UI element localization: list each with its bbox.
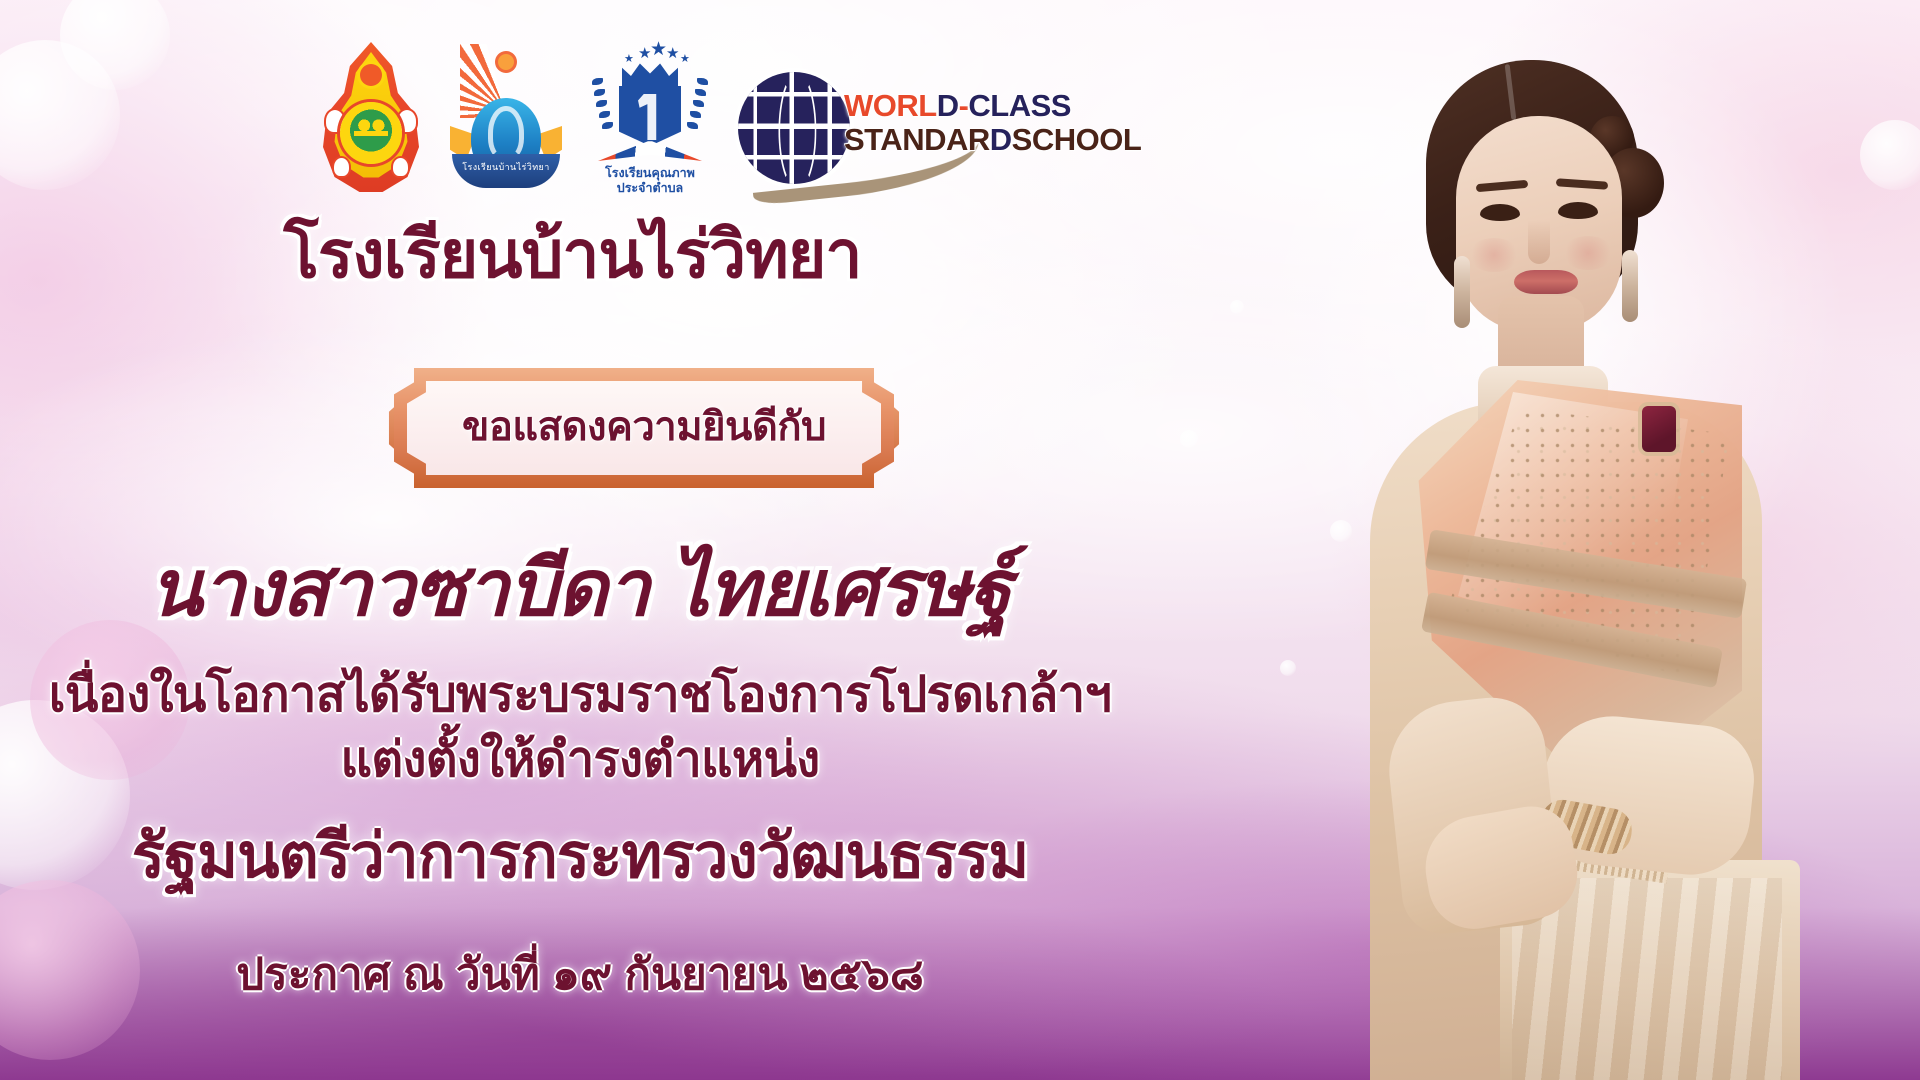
wcss-word-school: SCHOOL [1012,122,1142,157]
wcss-letter-d-bottom: D [990,122,1012,157]
ministry-of-education-emblem-icon [318,42,424,192]
wcss-line-2: STANDARDSCHOOL [844,123,1072,156]
crown-icon [622,62,678,88]
ban-rai-wittaya-school-emblem-icon: โรงเรียนบ้านไร่วิทยา [450,42,562,192]
eye [1480,204,1520,221]
laurel-icon [686,76,708,138]
logo-row: โรงเรียนบ้านไร่วิทยา ★ ★ ★ ★ ★ [318,40,1072,192]
wcss-wordmark: WORLD-CLASS STANDARDSCHOOL [844,90,1072,156]
star-icon: ★ [666,46,679,61]
wcss-word-world: WORL [844,88,937,123]
wcss-word-standar: STANDAR [844,122,990,157]
wcss-letter-d-top: D [937,88,959,123]
cheek-blush [1468,238,1520,272]
quality-school-label: โรงเรียนคุณภาพ ประจำตำบล [588,166,712,196]
laurel-icon [592,76,614,138]
emblem-wheel [360,64,382,86]
quality-school-label-line1: โรงเรียนคุณภาพ [588,166,712,181]
reason-line-1: เนื่องในโอกาสได้รับพระบรมราชโองการโปรดเก… [0,668,1160,723]
congratulation-plaque: ขอแสดงความยินดีกับ [394,368,894,488]
emblem-glyph [354,114,388,152]
earring [1622,250,1638,322]
star-icon: ★ [624,54,634,65]
star-icon: ★ [650,40,667,59]
congratulation-banner: โรงเรียนบ้านไร่วิทยา ★ ★ ★ ★ ★ [0,0,1920,1080]
emblem-lotus [393,158,408,176]
nose [1528,220,1550,264]
wcss-word-class: CLASS [968,88,1071,123]
portrait-photo [1250,20,1810,1080]
wcss-dash: - [959,88,969,123]
earring [1454,256,1470,328]
emblem-ribbon: โรงเรียนบ้านไร่วิทยา [452,154,560,188]
reason-line-2: แต่งตั้งให้ดำรงตำแหน่ง [0,733,1160,788]
quality-school-emblem-icon: ★ ★ ★ ★ ★ โรงเร [588,40,712,192]
announcement-date: ประกาศ ณ วันที่ ๑๙ กันยายน ๒๕๖๘ [0,950,1160,999]
cheek-blush [1562,236,1614,270]
position-title: รัฐมนตรีว่าการกระทรวงวัฒนธรรม [0,822,1160,891]
portrait-figure [1250,20,1810,1080]
lips [1514,270,1578,294]
emblem-swirl [488,106,524,160]
star-icon: ★ [680,54,690,65]
quality-school-label-line2: ประจำตำบล [588,181,712,196]
wcss-line-1: WORLD-CLASS [844,90,1072,121]
emblem-ribbon-label: โรงเรียนบ้านไร่วิทยา [452,160,560,174]
emblem-sun-core [498,54,514,70]
shoulder-brooch [1642,406,1676,452]
plaque-text: ขอแสดงความยินดีกับ [394,368,894,488]
emblem-lotus [334,158,349,176]
world-class-standard-school-logo-icon: WORLD-CLASS STANDARDSCHOOL [738,66,1072,192]
school-name-heading: โรงเรียนบ้านไร่วิทยา [0,218,1145,292]
honoree-name: นางสาวซาบีดา ไทยเศรษฐ์ [0,548,1160,630]
eye [1558,202,1598,219]
